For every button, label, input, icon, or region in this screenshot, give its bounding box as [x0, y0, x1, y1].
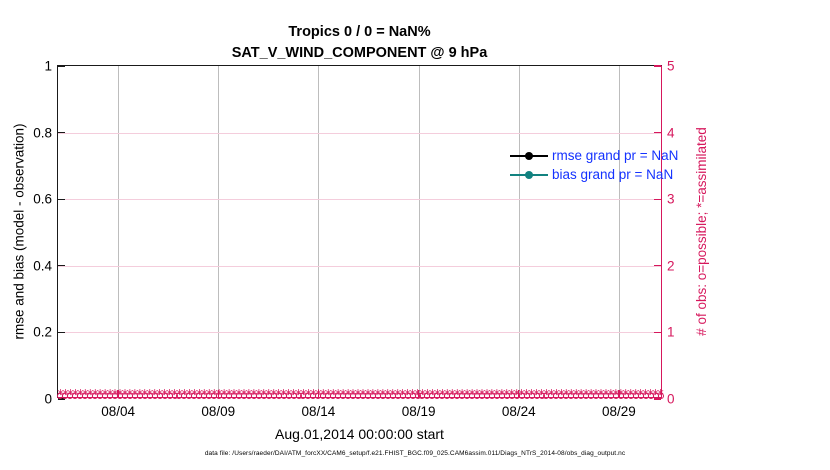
obs-assimilated-asterisk-icon: *	[289, 389, 298, 400]
obs-marker: *	[101, 391, 110, 402]
obs-possible-circle-icon	[355, 393, 361, 399]
obs-assimilated-asterisk-icon: *	[101, 389, 110, 400]
obs-assimilated-asterisk-icon: *	[468, 389, 477, 400]
obs-assimilated-asterisk-icon: *	[492, 389, 501, 400]
obs-possible-circle-icon	[553, 393, 559, 399]
obs-possible-circle-icon	[256, 393, 262, 399]
obs-possible-circle-icon	[350, 393, 356, 399]
y-axis-left-tick-label: 1	[44, 59, 52, 74]
gridline-horizontal	[58, 332, 661, 333]
y-axis-left-tick	[58, 398, 65, 399]
obs-possible-circle-icon	[419, 393, 425, 399]
y-axis-right-tick	[654, 199, 661, 200]
obs-marker: *	[225, 391, 234, 402]
x-axis-tick-label: 08/09	[201, 404, 235, 419]
obs-marker: *	[378, 391, 387, 402]
obs-assimilated-asterisk-icon: *	[200, 389, 209, 400]
obs-possible-circle-icon	[325, 393, 331, 399]
y-axis-left-tick	[58, 332, 65, 333]
obs-possible-circle-icon	[469, 393, 475, 399]
obs-assimilated-asterisk-icon: *	[235, 389, 244, 400]
gridline-horizontal	[58, 133, 661, 134]
y-axis-left-title-text: rmse and bias (model - observation)	[12, 123, 27, 339]
obs-assimilated-asterisk-icon: *	[393, 389, 402, 400]
obs-possible-circle-icon	[464, 393, 470, 399]
obs-marker: *	[284, 391, 293, 402]
obs-assimilated-asterisk-icon: *	[180, 389, 189, 400]
obs-marker: *	[497, 391, 506, 402]
obs-marker: *	[636, 391, 645, 402]
obs-possible-circle-icon	[380, 393, 386, 399]
obs-marker: *	[66, 391, 75, 402]
obs-possible-circle-icon	[405, 393, 411, 399]
x-axis-title: Aug.01,2014 00:00:00 start	[57, 426, 662, 442]
obs-marker: *	[329, 391, 338, 402]
gridline-vertical	[218, 66, 219, 397]
y-axis-right-tick	[654, 398, 661, 399]
obs-assimilated-asterisk-icon: *	[433, 389, 442, 400]
y-axis-left-tick-label: 0	[44, 392, 52, 407]
plot-area: 08/0408/0908/1408/1908/2408/2900.20.40.6…	[57, 65, 662, 398]
obs-marker: *	[626, 391, 635, 402]
obs-marker: *	[140, 391, 149, 402]
obs-assimilated-asterisk-icon: *	[244, 389, 253, 400]
x-axis-tick	[618, 390, 619, 397]
obs-possible-circle-icon	[638, 393, 644, 399]
obs-assimilated-asterisk-icon: *	[274, 389, 283, 400]
obs-marker: *	[606, 391, 615, 402]
obs-marker: *	[81, 391, 90, 402]
obs-possible-circle-icon	[340, 393, 346, 399]
obs-marker: *	[532, 391, 541, 402]
obs-marker: *	[334, 391, 343, 402]
obs-possible-circle-icon	[598, 393, 604, 399]
obs-possible-circle-icon	[439, 393, 445, 399]
obs-assimilated-asterisk-icon: *	[339, 389, 348, 400]
obs-possible-circle-icon	[211, 393, 217, 399]
obs-assimilated-asterisk-icon: *	[299, 389, 308, 400]
legend-item-rmse[interactable]: rmse grand pr = NaN	[510, 146, 710, 165]
obs-assimilated-asterisk-icon: *	[165, 389, 174, 400]
obs-possible-circle-icon	[206, 393, 212, 399]
obs-marker: *	[428, 391, 437, 402]
obs-possible-circle-icon	[310, 393, 316, 399]
obs-assimilated-asterisk-icon: *	[547, 389, 556, 400]
obs-marker: *	[230, 391, 239, 402]
legend-label-rmse: rmse grand pr = NaN	[552, 148, 678, 163]
obs-possible-circle-icon	[271, 393, 277, 399]
y-axis-right-tick-label: 0	[667, 392, 675, 407]
y-axis-right-tick-label: 4	[667, 125, 675, 140]
obs-possible-circle-icon	[504, 393, 510, 399]
chart-title-line-2: SAT_V_WIND_COMPONENT @ 9 hPa	[57, 43, 662, 64]
obs-assimilated-asterisk-icon: *	[195, 389, 204, 400]
y-axis-left-tick-label: 0.2	[33, 325, 52, 340]
obs-marker: *	[254, 391, 263, 402]
obs-possible-circle-icon	[186, 393, 192, 399]
obs-possible-circle-icon	[221, 393, 227, 399]
obs-marker: *	[145, 391, 154, 402]
y-axis-right-tick	[654, 132, 661, 133]
obs-marker: *	[155, 391, 164, 402]
chart-legend: rmse grand pr = NaN bias grand pr = NaN	[510, 146, 710, 184]
obs-marker: *	[170, 391, 179, 402]
obs-marker: *	[269, 391, 278, 402]
obs-possible-circle-icon	[499, 393, 505, 399]
obs-assimilated-asterisk-icon: *	[388, 389, 397, 400]
obs-marker: *	[349, 391, 358, 402]
obs-possible-circle-icon	[370, 393, 376, 399]
y-axis-right-tick	[654, 265, 661, 266]
obs-possible-circle-icon	[345, 393, 351, 399]
obs-possible-circle-icon	[167, 393, 173, 399]
obs-assimilated-asterisk-icon: *	[106, 389, 115, 400]
obs-possible-circle-icon	[147, 393, 153, 399]
obs-assimilated-asterisk-icon: *	[408, 389, 417, 400]
obs-marker: *	[621, 391, 630, 402]
obs-assimilated-asterisk-icon: *	[562, 389, 571, 400]
obs-marker: *	[274, 391, 283, 402]
obs-marker: *	[482, 391, 491, 402]
obs-possible-circle-icon	[162, 393, 168, 399]
obs-marker: *	[423, 391, 432, 402]
obs-possible-circle-icon	[360, 393, 366, 399]
obs-assimilated-asterisk-icon: *	[363, 389, 372, 400]
obs-possible-circle-icon	[296, 393, 302, 399]
obs-possible-circle-icon	[568, 393, 574, 399]
obs-marker: *	[71, 391, 80, 402]
obs-possible-circle-icon	[529, 393, 535, 399]
obs-assimilated-asterisk-icon: *	[205, 389, 214, 400]
obs-assimilated-asterisk-icon: *	[636, 389, 645, 400]
obs-marker: *	[324, 391, 333, 402]
obs-assimilated-asterisk-icon: *	[423, 389, 432, 400]
y-axis-left-title: rmse and bias (model - observation)	[10, 65, 28, 398]
obs-assimilated-asterisk-icon: *	[264, 389, 273, 400]
obs-marker: *	[190, 391, 199, 402]
obs-assimilated-asterisk-icon: *	[160, 389, 169, 400]
obs-assimilated-asterisk-icon: *	[96, 389, 105, 400]
obs-marker: *	[448, 391, 457, 402]
obs-assimilated-asterisk-icon: *	[368, 389, 377, 400]
obs-marker: *	[86, 391, 95, 402]
obs-assimilated-asterisk-icon: *	[269, 389, 278, 400]
obs-assimilated-asterisk-icon: *	[66, 389, 75, 400]
obs-marker: *	[239, 391, 248, 402]
obs-assimilated-asterisk-icon: *	[542, 389, 551, 400]
obs-assimilated-asterisk-icon: *	[502, 389, 511, 400]
obs-marker: *	[160, 391, 169, 402]
obs-assimilated-asterisk-icon: *	[537, 389, 546, 400]
obs-assimilated-asterisk-icon: *	[344, 389, 353, 400]
x-axis-tick-label: 08/29	[602, 404, 636, 419]
obs-possible-circle-icon	[82, 393, 88, 399]
obs-assimilated-asterisk-icon: *	[403, 389, 412, 400]
obs-marker: *	[309, 391, 318, 402]
obs-assimilated-asterisk-icon: *	[522, 389, 531, 400]
obs-assimilated-asterisk-icon: *	[170, 389, 179, 400]
obs-marker: *	[358, 391, 367, 402]
obs-marker: *	[453, 391, 462, 402]
y-axis-right-tick	[654, 332, 661, 333]
obs-assimilated-asterisk-icon: *	[294, 389, 303, 400]
obs-marker: *	[393, 391, 402, 402]
obs-assimilated-asterisk-icon: *	[334, 389, 343, 400]
obs-possible-circle-icon	[588, 393, 594, 399]
obs-marker: *	[388, 391, 397, 402]
gridline-vertical	[118, 66, 119, 397]
obs-assimilated-asterisk-icon: *	[135, 389, 144, 400]
obs-marker: *	[567, 391, 576, 402]
legend-swatch-bias	[510, 169, 548, 181]
obs-assimilated-asterisk-icon: *	[155, 389, 164, 400]
obs-assimilated-asterisk-icon: *	[309, 389, 318, 400]
obs-assimilated-asterisk-icon: *	[572, 389, 581, 400]
chart-title-line-1: Tropics 0 / 0 = NaN%	[57, 22, 662, 43]
obs-marker: *	[408, 391, 417, 402]
gridline-vertical	[619, 66, 620, 397]
obs-possible-circle-icon	[191, 393, 197, 399]
obs-marker: *	[249, 391, 258, 402]
obs-possible-circle-icon	[181, 393, 187, 399]
obs-possible-circle-icon	[92, 393, 98, 399]
obs-possible-circle-icon	[72, 393, 78, 399]
obs-marker: *	[522, 391, 531, 402]
obs-marker: *	[468, 391, 477, 402]
obs-possible-circle-icon	[320, 393, 326, 399]
obs-marker: *	[592, 391, 601, 402]
obs-marker: *	[562, 391, 571, 402]
obs-possible-circle-icon	[633, 393, 639, 399]
obs-assimilated-asterisk-icon: *	[86, 389, 95, 400]
obs-assimilated-asterisk-icon: *	[626, 389, 635, 400]
obs-marker: *	[463, 391, 472, 402]
obs-assimilated-asterisk-icon: *	[482, 389, 491, 400]
obs-marker: *	[646, 391, 655, 402]
obs-marker: *	[527, 391, 536, 402]
obs-assimilated-asterisk-icon: *	[81, 389, 90, 400]
obs-possible-circle-icon	[643, 393, 649, 399]
obs-possible-circle-icon	[459, 393, 465, 399]
obs-assimilated-asterisk-icon: *	[587, 389, 596, 400]
gridline-horizontal	[58, 199, 661, 200]
circle-marker	[525, 171, 533, 179]
obs-marker: *	[135, 391, 144, 402]
obs-assimilated-asterisk-icon: *	[91, 389, 100, 400]
y-axis-left-tick	[58, 265, 65, 266]
obs-marker: *	[259, 391, 268, 402]
obs-possible-circle-icon	[241, 393, 247, 399]
obs-marker: *	[96, 391, 105, 402]
obs-assimilated-asterisk-icon: *	[239, 389, 248, 400]
obs-possible-circle-icon	[231, 393, 237, 399]
obs-possible-circle-icon	[107, 393, 113, 399]
obs-assimilated-asterisk-icon: *	[527, 389, 536, 400]
x-axis-tick	[117, 390, 118, 397]
obs-assimilated-asterisk-icon: *	[532, 389, 541, 400]
obs-possible-circle-icon	[494, 393, 500, 399]
obs-possible-circle-icon	[132, 393, 138, 399]
obs-assimilated-asterisk-icon: *	[458, 389, 467, 400]
x-axis-tick-label: 08/19	[402, 404, 436, 419]
obs-marker: *	[656, 391, 665, 402]
obs-possible-circle-icon	[563, 393, 569, 399]
obs-possible-circle-icon	[276, 393, 282, 399]
gridline-vertical	[318, 66, 319, 397]
obs-marker: *	[289, 391, 298, 402]
y-axis-right-tick-label: 2	[667, 258, 675, 273]
obs-possible-circle-icon	[172, 393, 178, 399]
obs-marker: *	[304, 391, 313, 402]
obs-assimilated-asterisk-icon: *	[319, 389, 328, 400]
obs-marker: *	[319, 391, 328, 402]
y-axis-left-tick	[58, 132, 65, 133]
obs-marker: *	[76, 391, 85, 402]
obs-possible-circle-icon	[543, 393, 549, 399]
y-axis-left-tick-label: 0.8	[33, 125, 52, 140]
obs-assimilated-asterisk-icon: *	[592, 389, 601, 400]
obs-assimilated-asterisk-icon: *	[120, 389, 129, 400]
obs-possible-circle-icon	[305, 393, 311, 399]
obs-possible-circle-icon	[539, 393, 545, 399]
obs-assimilated-asterisk-icon: *	[512, 389, 521, 400]
obs-possible-circle-icon	[454, 393, 460, 399]
obs-marker: *	[294, 391, 303, 402]
obs-possible-circle-icon	[102, 393, 108, 399]
obs-assimilated-asterisk-icon: *	[378, 389, 387, 400]
obs-possible-circle-icon	[335, 393, 341, 399]
obs-assimilated-asterisk-icon: *	[557, 389, 566, 400]
obs-possible-circle-icon	[375, 393, 381, 399]
y-axis-left-tick-label: 0.4	[33, 258, 52, 273]
obs-marker: *	[220, 391, 229, 402]
obs-possible-circle-icon	[281, 393, 287, 399]
obs-marker: *	[244, 391, 253, 402]
obs-marker: *	[205, 391, 214, 402]
obs-marker: *	[344, 391, 353, 402]
obs-assimilated-asterisk-icon: *	[254, 389, 263, 400]
obs-possible-circle-icon	[266, 393, 272, 399]
obs-assimilated-asterisk-icon: *	[190, 389, 199, 400]
obs-possible-circle-icon	[67, 393, 73, 399]
obs-marker: *	[507, 391, 516, 402]
obs-assimilated-asterisk-icon: *	[443, 389, 452, 400]
obs-marker: *	[403, 391, 412, 402]
obs-possible-circle-icon	[474, 393, 480, 399]
obs-possible-circle-icon	[226, 393, 232, 399]
obs-marker: *	[502, 391, 511, 402]
obs-assimilated-asterisk-icon: *	[220, 389, 229, 400]
obs-marker: *	[125, 391, 134, 402]
obs-assimilated-asterisk-icon: *	[373, 389, 382, 400]
legend-swatch-rmse	[510, 150, 548, 162]
obs-possible-circle-icon	[97, 393, 103, 399]
obs-possible-circle-icon	[410, 393, 416, 399]
obs-possible-circle-icon	[291, 393, 297, 399]
obs-possible-circle-icon	[246, 393, 252, 399]
obs-possible-circle-icon	[444, 393, 450, 399]
obs-assimilated-asterisk-icon: *	[185, 389, 194, 400]
obs-possible-circle-icon	[424, 393, 430, 399]
obs-marker: *	[433, 391, 442, 402]
obs-marker: *	[438, 391, 447, 402]
obs-assimilated-asterisk-icon: *	[621, 389, 630, 400]
obs-marker: *	[299, 391, 308, 402]
obs-possible-circle-icon	[434, 393, 440, 399]
obs-assimilated-asterisk-icon: *	[383, 389, 392, 400]
obs-assimilated-asterisk-icon: *	[125, 389, 134, 400]
obs-assimilated-asterisk-icon: *	[329, 389, 338, 400]
obs-marker: *	[200, 391, 209, 402]
obs-assimilated-asterisk-icon: *	[438, 389, 447, 400]
obs-marker: *	[91, 391, 100, 402]
obs-assimilated-asterisk-icon: *	[641, 389, 650, 400]
obs-possible-circle-icon	[122, 393, 128, 399]
obs-possible-circle-icon	[400, 393, 406, 399]
data-file-caption: data file: /Users/raeder/DAI/ATM_forcXX/…	[0, 450, 830, 457]
obs-possible-circle-icon	[628, 393, 634, 399]
legend-label-bias: bias grand pr = NaN	[552, 167, 673, 182]
obs-possible-circle-icon	[484, 393, 490, 399]
obs-possible-circle-icon	[286, 393, 292, 399]
obs-possible-circle-icon	[385, 393, 391, 399]
obs-assimilated-asterisk-icon: *	[582, 389, 591, 400]
circle-marker	[525, 152, 533, 160]
obs-marker: *	[487, 391, 496, 402]
obs-assimilated-asterisk-icon: *	[463, 389, 472, 400]
obs-possible-circle-icon	[137, 393, 143, 399]
obs-marker: *	[180, 391, 189, 402]
obs-assimilated-asterisk-icon: *	[71, 389, 80, 400]
obs-marker: *	[587, 391, 596, 402]
obs-marker: *	[106, 391, 115, 402]
obs-assimilated-asterisk-icon: *	[398, 389, 407, 400]
figure-canvas: Tropics 0 / 0 = NaN% SAT_V_WIND_COMPONEN…	[0, 0, 830, 470]
x-axis-tick	[418, 390, 419, 397]
x-axis-tick-label: 08/04	[101, 404, 135, 419]
obs-marker: *	[279, 391, 288, 402]
obs-assimilated-asterisk-icon: *	[225, 389, 234, 400]
obs-possible-circle-icon	[429, 393, 435, 399]
obs-marker: *	[235, 391, 244, 402]
obs-possible-circle-icon	[87, 393, 93, 399]
x-axis-tick	[318, 390, 319, 397]
obs-marker: *	[552, 391, 561, 402]
obs-assimilated-asterisk-icon: *	[145, 389, 154, 400]
obs-marker: *	[537, 391, 546, 402]
obs-marker: *	[398, 391, 407, 402]
obs-marker: *	[195, 391, 204, 402]
obs-possible-circle-icon	[449, 393, 455, 399]
obs-possible-circle-icon	[479, 393, 485, 399]
x-axis-tick-label: 08/14	[302, 404, 336, 419]
obs-assimilated-asterisk-icon: *	[473, 389, 482, 400]
obs-possible-circle-icon	[558, 393, 564, 399]
obs-assimilated-asterisk-icon: *	[597, 389, 606, 400]
obs-possible-circle-icon	[583, 393, 589, 399]
obs-possible-circle-icon	[196, 393, 202, 399]
obs-assimilated-asterisk-icon: *	[507, 389, 516, 400]
obs-possible-circle-icon	[603, 393, 609, 399]
obs-assimilated-asterisk-icon: *	[140, 389, 149, 400]
obs-assimilated-asterisk-icon: *	[631, 389, 640, 400]
obs-assimilated-asterisk-icon: *	[284, 389, 293, 400]
obs-assimilated-asterisk-icon: *	[175, 389, 184, 400]
legend-item-bias[interactable]: bias grand pr = NaN	[510, 165, 710, 184]
y-axis-left-tick	[58, 199, 65, 200]
obs-possible-circle-icon	[534, 393, 540, 399]
obs-assimilated-asterisk-icon: *	[358, 389, 367, 400]
